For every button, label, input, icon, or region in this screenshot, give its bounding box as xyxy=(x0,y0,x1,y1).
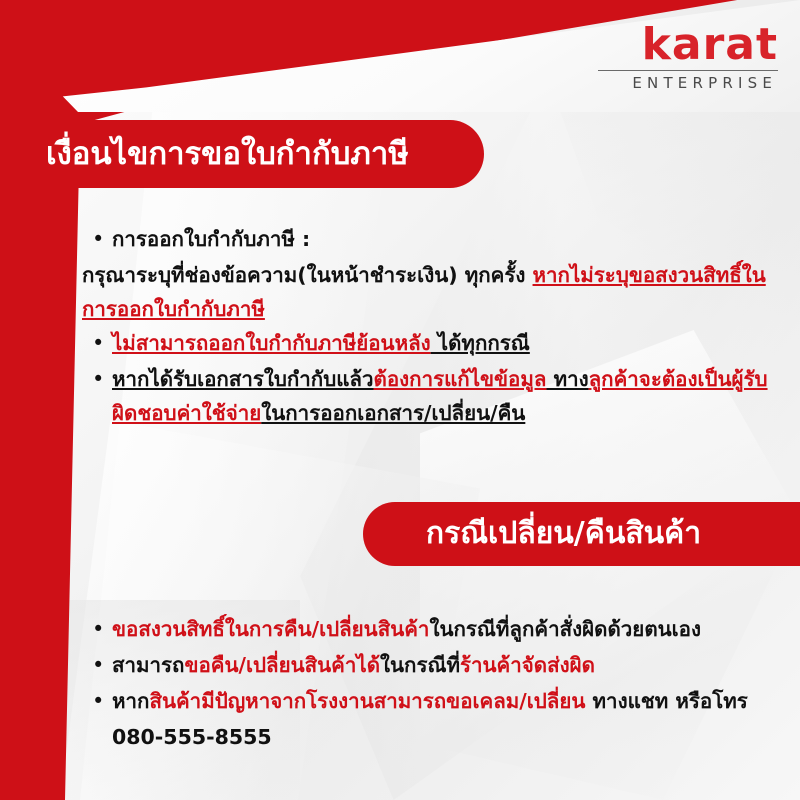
bullet-icon: • xyxy=(92,612,112,646)
tax-bullet-2: ไม่สามารถออกใบกำกับภาษีย้อนหลัง ได้ทุกกร… xyxy=(112,326,792,360)
banner-return-exchange: กรณีเปลี่ยน/คืนสินค้า xyxy=(363,502,800,566)
tax-bullet-1-body: กรุณาระบุที่ช่องข้อความ(ในหน้าชำระเงิน) … xyxy=(82,258,792,292)
tax-bullet-1-line2-black: กรุณาระบุที่ช่องข้อความ(ในหน้าชำระเงิน) … xyxy=(82,263,533,287)
tax-bullet-2-red: ไม่สามารถออกใบกำกับภาษีย้อนหลัง xyxy=(112,331,431,355)
list-item: • ไม่สามารถออกใบกำกับภาษีย้อนหลัง ได้ทุก… xyxy=(92,326,792,360)
return-bullet-1-black: ในกรณีที่ลูกค้าสั่งผิดด้วยตนเอง xyxy=(429,617,701,641)
bullet-icon: • xyxy=(92,362,112,396)
poster-canvas: karat ENTERPRISE เงื่อนไขการขอใบกำกับภาษ… xyxy=(0,0,800,800)
tax-bullet-2-black: ได้ทุกกรณี xyxy=(431,331,530,355)
return-bullet-1-red: ขอสงวนสิทธิ์ในการคืน/เปลี่ยนสินค้า xyxy=(112,617,429,641)
return-bullet-3-black2: ทางแชท หรือโทร xyxy=(585,689,747,713)
bullet-icon: • xyxy=(92,326,112,360)
return-bullet-2-red2: ร้านค้าจัดส่งผิด xyxy=(460,653,595,677)
banner-tax-title: เงื่อนไขการขอใบกำกับภาษี xyxy=(46,139,409,170)
tax-bullet-3-black1: หากได้รับเอกสารใบกำกับแล้ว xyxy=(112,367,374,391)
return-bullet-3: หากสินค้ามีปัญหาจากโรงงานสามารถขอเคลม/เป… xyxy=(112,684,792,718)
return-bullet-2-red1: ขอคืน/เปลี่ยนสินค้าได้ xyxy=(184,653,380,677)
return-bullet-2: สามารถขอคืน/เปลี่ยนสินค้าได้ในกรณีที่ร้า… xyxy=(112,648,792,682)
tax-bullet-1-line3: การออกใบกำกับภาษี xyxy=(82,292,792,326)
return-bullet-2-black1: สามารถ xyxy=(112,653,184,677)
contact-phone-number[interactable]: 080-555-8555 xyxy=(112,720,792,754)
tax-bullet-3: หากได้รับเอกสารใบกำกับแล้วต้องการแก้ไขข้… xyxy=(112,362,792,430)
logo-divider xyxy=(598,70,778,71)
tax-bullet-1-line3-red: การออกใบกำกับภาษี xyxy=(82,297,265,321)
tax-bullet-3-red1: ต้องการแก้ไขข้อมูล xyxy=(374,367,547,391)
tax-conditions-list: • การออกใบกำกับภาษี : กรุณาระบุที่ช่องข้… xyxy=(92,222,792,432)
list-item: • หากสินค้ามีปัญหาจากโรงงานสามารถขอเคลม/… xyxy=(92,684,792,718)
list-item: • ขอสงวนสิทธิ์ในการคืน/เปลี่ยนสินค้าในกร… xyxy=(92,612,792,646)
brand-tagline: ENTERPRISE xyxy=(598,74,778,92)
return-policy-list: • ขอสงวนสิทธิ์ในการคืน/เปลี่ยนสินค้าในกร… xyxy=(92,612,792,754)
brand-wordmark: karat xyxy=(598,22,778,68)
list-item: • หากได้รับเอกสารใบกำกับแล้วต้องการแก้ไข… xyxy=(92,362,792,430)
bullet-icon: • xyxy=(92,648,112,682)
list-item: • การออกใบกำกับภาษี : xyxy=(92,222,792,256)
bullet-icon: • xyxy=(92,222,112,256)
list-item: • สามารถขอคืน/เปลี่ยนสินค้าได้ในกรณีที่ร… xyxy=(92,648,792,682)
banner-return-title: กรณีเปลี่ยน/คืนสินค้า xyxy=(426,519,737,549)
tax-bullet-3-black3: ในการออกเอกสาร/เปลี่ยน/คืน xyxy=(261,401,525,425)
tax-bullet-3-black2: ทาง xyxy=(546,367,588,391)
tax-bullet-1-heading: การออกใบกำกับภาษี : xyxy=(112,222,792,256)
banner-tax-conditions: เงื่อนไขการขอใบกำกับภาษี xyxy=(0,120,484,188)
return-bullet-2-black2: ในกรณีที่ xyxy=(380,653,460,677)
brand-logo: karat ENTERPRISE xyxy=(598,22,778,92)
return-bullet-3-black1: หาก xyxy=(112,689,149,713)
return-bullet-3-red1: สินค้ามีปัญหาจากโรงงานสามารถขอเคลม/เปลี่… xyxy=(149,689,585,713)
tax-bullet-1-line2-red: หากไม่ระบุขอสงวนสิทธิ์ใน xyxy=(533,263,766,287)
return-bullet-1: ขอสงวนสิทธิ์ในการคืน/เปลี่ยนสินค้าในกรณี… xyxy=(112,612,792,646)
bullet-icon: • xyxy=(92,684,112,718)
